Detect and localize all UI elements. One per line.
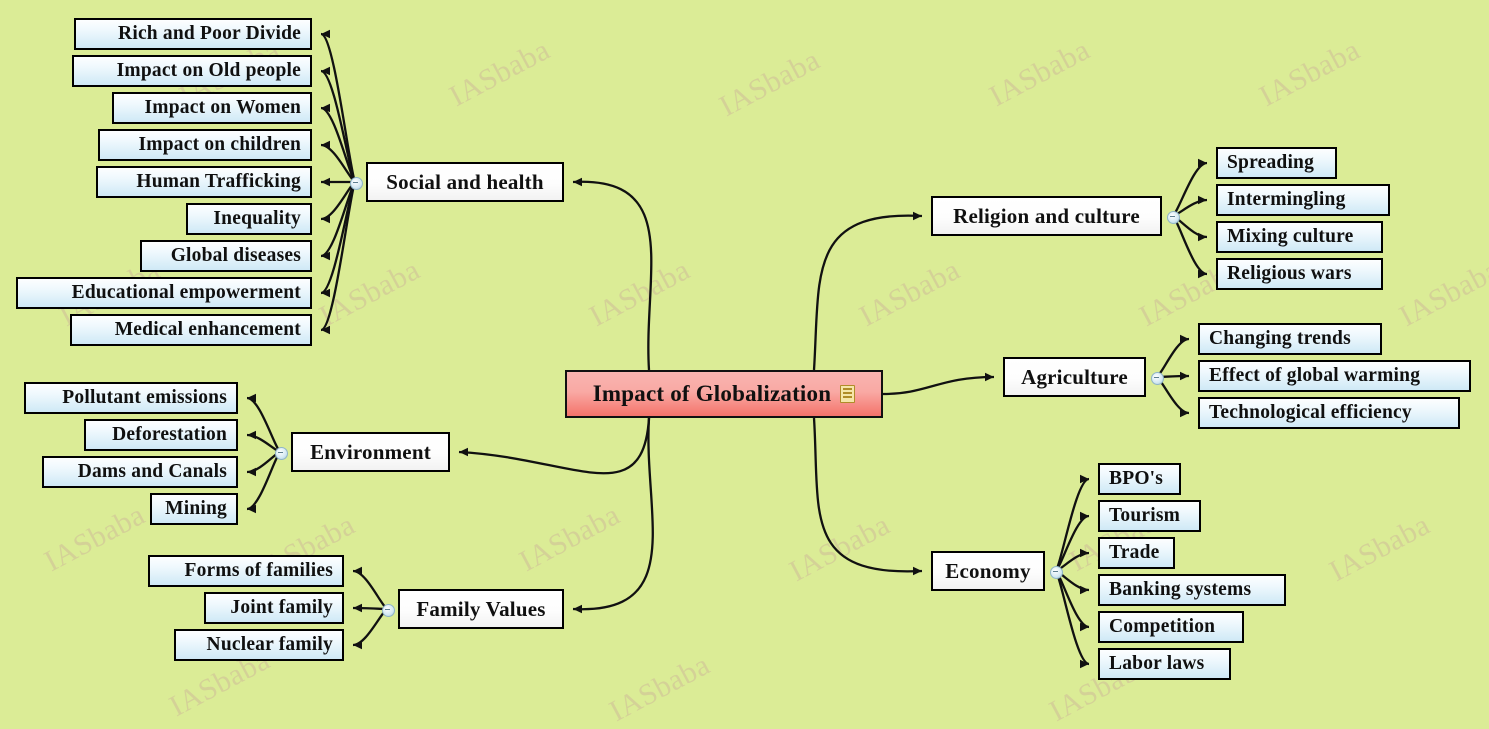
collapse-toggle-economy[interactable] <box>1050 566 1063 579</box>
leaf-node-social-and-health-3-label: Impact on children <box>138 134 301 156</box>
leaf-node-social-and-health-0-label: Rich and Poor Divide <box>118 23 301 45</box>
leaf-node-religion-and-culture-0[interactable]: Spreading <box>1216 147 1337 179</box>
watermark: IASbaba <box>1324 508 1436 589</box>
branch-node-environment-label: Environment <box>310 440 431 465</box>
leaf-node-social-and-health-8[interactable]: Medical enhancement <box>70 314 312 346</box>
watermark: IASbaba <box>784 508 896 589</box>
leaf-node-environment-3[interactable]: Mining <box>150 493 238 525</box>
leaf-node-economy-2-label: Trade <box>1109 542 1159 564</box>
watermark: IASbaba <box>984 33 1096 114</box>
root-node[interactable]: Impact of Globalization <box>565 370 883 418</box>
leaf-node-family-values-2[interactable]: Nuclear family <box>174 629 344 661</box>
leaf-node-environment-3-label: Mining <box>165 498 227 520</box>
leaf-node-economy-5-label: Labor laws <box>1109 653 1204 675</box>
leaf-node-family-values-2-label: Nuclear family <box>207 634 333 656</box>
leaf-node-religion-and-culture-2-label: Mixing culture <box>1227 226 1353 248</box>
leaf-node-agriculture-0-label: Changing trends <box>1209 328 1351 350</box>
leaf-node-family-values-0[interactable]: Forms of families <box>148 555 344 587</box>
leaf-node-social-and-health-5[interactable]: Inequality <box>186 203 312 235</box>
leaf-node-social-and-health-2-label: Impact on Women <box>145 97 302 119</box>
leaf-node-environment-1[interactable]: Deforestation <box>84 419 238 451</box>
leaf-node-environment-1-label: Deforestation <box>112 424 227 446</box>
leaf-node-environment-2[interactable]: Dams and Canals <box>42 456 238 488</box>
leaf-node-religion-and-culture-2[interactable]: Mixing culture <box>1216 221 1383 253</box>
branch-node-environment[interactable]: Environment <box>291 432 450 472</box>
branch-node-family-values-label: Family Values <box>416 597 545 622</box>
leaf-node-social-and-health-5-label: Inequality <box>213 208 301 230</box>
leaf-node-family-values-1-label: Joint family <box>230 597 333 619</box>
watermark: IASbaba <box>444 33 556 114</box>
watermark: IASbaba <box>1254 33 1366 114</box>
watermark: IASbaba <box>39 498 151 579</box>
leaf-node-social-and-health-6-label: Global diseases <box>171 245 301 267</box>
branch-node-family-values[interactable]: Family Values <box>398 589 564 629</box>
leaf-node-social-and-health-6[interactable]: Global diseases <box>140 240 312 272</box>
leaf-node-economy-3[interactable]: Banking systems <box>1098 574 1286 606</box>
root-node-label: Impact of Globalization <box>593 381 831 407</box>
leaf-node-religion-and-culture-3[interactable]: Religious wars <box>1216 258 1383 290</box>
leaf-node-economy-0-label: BPO's <box>1109 468 1163 490</box>
leaf-node-religion-and-culture-0-label: Spreading <box>1227 152 1314 174</box>
leaf-node-agriculture-0[interactable]: Changing trends <box>1198 323 1382 355</box>
leaf-node-economy-3-label: Banking systems <box>1109 579 1251 601</box>
note-icon <box>840 385 855 403</box>
leaf-node-economy-4-label: Competition <box>1109 616 1215 638</box>
watermark: IASbaba <box>314 253 426 334</box>
leaf-node-religion-and-culture-3-label: Religious wars <box>1227 263 1352 285</box>
leaf-node-social-and-health-4[interactable]: Human Trafficking <box>96 166 312 198</box>
leaf-node-family-values-0-label: Forms of families <box>184 560 333 582</box>
watermark: IASbaba <box>584 253 696 334</box>
leaf-node-religion-and-culture-1-label: Intermingling <box>1227 189 1346 211</box>
collapse-toggle-environment[interactable] <box>275 447 288 460</box>
collapse-toggle-agriculture[interactable] <box>1151 372 1164 385</box>
leaf-node-economy-0[interactable]: BPO's <box>1098 463 1181 495</box>
leaf-node-social-and-health-4-label: Human Trafficking <box>136 171 301 193</box>
watermark: IASbaba <box>854 253 966 334</box>
leaf-node-family-values-1[interactable]: Joint family <box>204 592 344 624</box>
leaf-node-environment-0-label: Pollutant emissions <box>62 387 227 409</box>
leaf-node-religion-and-culture-1[interactable]: Intermingling <box>1216 184 1390 216</box>
leaf-node-agriculture-2-label: Technological efficiency <box>1209 402 1412 424</box>
mindmap-canvas: IASbaba IASbaba IASbaba IASbaba IASbaba … <box>0 0 1489 698</box>
watermark: IASbaba <box>1394 253 1489 334</box>
leaf-node-economy-4[interactable]: Competition <box>1098 611 1244 643</box>
leaf-node-social-and-health-8-label: Medical enhancement <box>115 319 301 341</box>
leaf-node-social-and-health-3[interactable]: Impact on children <box>98 129 312 161</box>
leaf-node-agriculture-2[interactable]: Technological efficiency <box>1198 397 1460 429</box>
watermark: IASbaba <box>514 498 626 579</box>
leaf-node-agriculture-1-label: Effect of global warming <box>1209 365 1420 387</box>
leaf-node-social-and-health-1[interactable]: Impact on Old people <box>72 55 312 87</box>
branch-node-social-and-health-label: Social and health <box>386 170 543 195</box>
leaf-node-economy-5[interactable]: Labor laws <box>1098 648 1231 680</box>
branch-node-economy[interactable]: Economy <box>931 551 1045 591</box>
leaf-node-social-and-health-1-label: Impact on Old people <box>117 60 301 82</box>
branch-node-agriculture-label: Agriculture <box>1021 365 1128 390</box>
collapse-toggle-family-values[interactable] <box>382 604 395 617</box>
leaf-node-economy-1-label: Tourism <box>1109 505 1180 527</box>
collapse-toggle-social-and-health[interactable] <box>350 177 363 190</box>
watermark: IASbaba <box>604 648 716 729</box>
leaf-node-social-and-health-7-label: Educational empowerment <box>72 282 301 304</box>
watermark: IASbaba <box>714 43 826 124</box>
leaf-node-social-and-health-2[interactable]: Impact on Women <box>112 92 312 124</box>
leaf-node-economy-1[interactable]: Tourism <box>1098 500 1201 532</box>
leaf-node-economy-2[interactable]: Trade <box>1098 537 1175 569</box>
leaf-node-social-and-health-7[interactable]: Educational empowerment <box>16 277 312 309</box>
leaf-node-environment-0[interactable]: Pollutant emissions <box>24 382 238 414</box>
branch-node-religion-and-culture[interactable]: Religion and culture <box>931 196 1162 236</box>
leaf-node-environment-2-label: Dams and Canals <box>78 461 227 483</box>
branch-node-agriculture[interactable]: Agriculture <box>1003 357 1146 397</box>
collapse-toggle-religion-and-culture[interactable] <box>1167 211 1180 224</box>
branch-node-social-and-health[interactable]: Social and health <box>366 162 564 202</box>
branch-node-religion-and-culture-label: Religion and culture <box>953 204 1140 229</box>
leaf-node-social-and-health-0[interactable]: Rich and Poor Divide <box>74 18 312 50</box>
branch-node-economy-label: Economy <box>945 559 1030 584</box>
leaf-node-agriculture-1[interactable]: Effect of global warming <box>1198 360 1471 392</box>
